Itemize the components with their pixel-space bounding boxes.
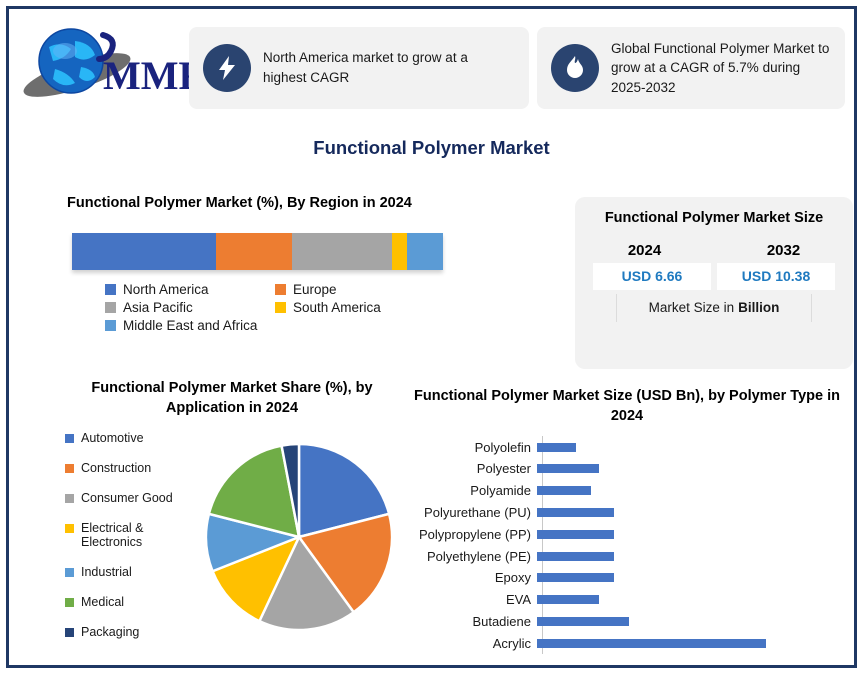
region-chart-title: Functional Polymer Market (%), By Region… [67, 195, 557, 211]
legend-label: Middle East and Africa [123, 318, 257, 333]
header-badge-1-text: North America market to grow at a highes… [263, 48, 515, 87]
pie-graphic [199, 437, 399, 637]
region-legend-item: Europe [275, 282, 445, 297]
value-end-box: USD 10.38 [717, 263, 835, 290]
market-size-footer: Market Size in Billion [616, 294, 812, 322]
flame-icon [551, 44, 599, 92]
region-legend: North America Europe Asia Pacific South … [105, 282, 557, 333]
brand-name: MMR [103, 53, 194, 98]
legend-swatch [105, 284, 116, 295]
polymer-bar-row: Polyethylene (PE) [401, 545, 853, 567]
legend-label: Automotive [81, 431, 144, 445]
pie-slices [199, 437, 399, 637]
polymer-bar [537, 464, 599, 473]
polymer-category-label: Polyamide [401, 483, 537, 498]
polymer-bar [537, 617, 629, 626]
region-legend-item: Middle East and Africa [105, 318, 275, 333]
polymer-type-chart: Functional Polymer Market Size (USD Bn),… [401, 387, 853, 654]
pie-legend-item: Medical [65, 595, 195, 609]
pie-legend-item: Packaging [65, 625, 195, 639]
region-legend-item: Asia Pacific [105, 300, 275, 315]
year-start-label: 2024 [628, 242, 661, 259]
legend-label: South America [293, 300, 381, 315]
polymer-bar-row: Polypropylene (PP) [401, 523, 853, 545]
region-segment-asia-pacific [292, 233, 392, 270]
legend-swatch [65, 524, 74, 533]
value-start-box: USD 6.66 [593, 263, 711, 290]
region-segment-europe [216, 233, 292, 270]
footer-unit: Billion [738, 300, 779, 315]
polymer-bar-row: Polyamide [401, 480, 853, 502]
legend-label: North America [123, 282, 209, 297]
polymer-chart-title: Functional Polymer Market Size (USD Bn),… [401, 387, 853, 426]
polymer-category-label: Polypropylene (PP) [401, 527, 537, 542]
pie-legend-item: Electrical & Electronics [65, 521, 195, 549]
legend-label: Construction [81, 461, 151, 475]
polymer-bar [537, 443, 576, 452]
application-pie-chart: Functional Polymer Market Share (%), by … [49, 379, 449, 418]
polymer-bar [537, 508, 614, 517]
polymer-bar-row: Epoxy [401, 567, 853, 589]
legend-label: Europe [293, 282, 337, 297]
polymer-bar-row: Acrylic [401, 632, 853, 654]
polymer-bar-row: Polyolefin [401, 436, 853, 458]
polymer-bar [537, 595, 599, 604]
market-size-title: Functional Polymer Market Size [575, 197, 853, 228]
polymer-bar-row: Butadiene [401, 611, 853, 633]
polymer-category-label: Polyolefin [401, 440, 537, 455]
header: MMR North America market to grow at a hi… [9, 9, 854, 127]
polymer-bar-row: EVA [401, 589, 853, 611]
region-segment-middle-east-africa [407, 233, 443, 270]
pie-legend-item: Industrial [65, 565, 195, 579]
legend-swatch [275, 284, 286, 295]
mmr-logo: MMR [19, 17, 194, 109]
legend-label: Medical [81, 595, 124, 609]
pie-legend-item: Consumer Good [65, 491, 195, 505]
polymer-bar [537, 552, 614, 561]
legend-label: Packaging [81, 625, 139, 639]
market-size-values: USD 6.66 USD 10.38 [575, 263, 853, 290]
polymer-bar [537, 573, 614, 582]
polymer-chart-plot: PolyolefinPolyesterPolyamidePolyurethane… [401, 436, 853, 654]
polymer-bar-row: Polyester [401, 458, 853, 480]
pie-legend-item: Automotive [65, 431, 195, 445]
page-title: Functional Polymer Market [9, 137, 854, 159]
legend-label: Industrial [81, 565, 132, 579]
legend-label: Consumer Good [81, 491, 173, 505]
polymer-bar [537, 530, 614, 539]
header-badge-north-america: North America market to grow at a highes… [189, 27, 529, 109]
pie-legend: Automotive Construction Consumer Good El… [65, 431, 195, 655]
polymer-category-label: Polyurethane (PU) [401, 505, 537, 520]
polymer-bar [537, 486, 591, 495]
legend-swatch [65, 628, 74, 637]
legend-swatch [105, 320, 116, 331]
legend-label: Asia Pacific [123, 300, 193, 315]
polymer-bar-rows: PolyolefinPolyesterPolyamidePolyurethane… [401, 436, 853, 654]
region-segment-south-america [392, 233, 407, 270]
market-size-panel: Functional Polymer Market Size 2024 2032… [575, 197, 853, 369]
header-badge-2-text: Global Functional Polymer Market to grow… [611, 39, 831, 98]
region-stacked-bar [72, 233, 443, 270]
polymer-category-label: Polyethylene (PE) [401, 549, 537, 564]
polymer-category-label: Polyester [401, 461, 537, 476]
year-end-label: 2032 [767, 242, 800, 259]
legend-swatch [65, 568, 74, 577]
region-segment-north-america [72, 233, 216, 270]
polymer-category-label: Butadiene [401, 614, 537, 629]
legend-swatch [65, 494, 74, 503]
legend-swatch [65, 598, 74, 607]
header-badge-cagr: Global Functional Polymer Market to grow… [537, 27, 845, 109]
polymer-category-label: Acrylic [401, 636, 537, 651]
polymer-bar [537, 639, 766, 648]
region-chart: Functional Polymer Market (%), By Region… [57, 195, 557, 333]
legend-swatch [105, 302, 116, 313]
globe-logo-icon: MMR [19, 17, 194, 109]
region-legend-item: South America [275, 300, 445, 315]
legend-swatch [65, 434, 74, 443]
pie-legend-item: Construction [65, 461, 195, 475]
polymer-category-label: EVA [401, 592, 537, 607]
legend-label: Electrical & Electronics [81, 521, 195, 549]
legend-swatch [65, 464, 74, 473]
polymer-category-label: Epoxy [401, 570, 537, 585]
legend-swatch [275, 302, 286, 313]
market-size-years: 2024 2032 [575, 242, 853, 259]
pie-chart-title: Functional Polymer Market Share (%), by … [67, 379, 397, 418]
region-legend-item: North America [105, 282, 275, 297]
polymer-bar-row: Polyurethane (PU) [401, 502, 853, 524]
lightning-bolt-icon [203, 44, 251, 92]
poster-frame: MMR North America market to grow at a hi… [6, 6, 857, 668]
footer-prefix: Market Size in [649, 300, 735, 315]
